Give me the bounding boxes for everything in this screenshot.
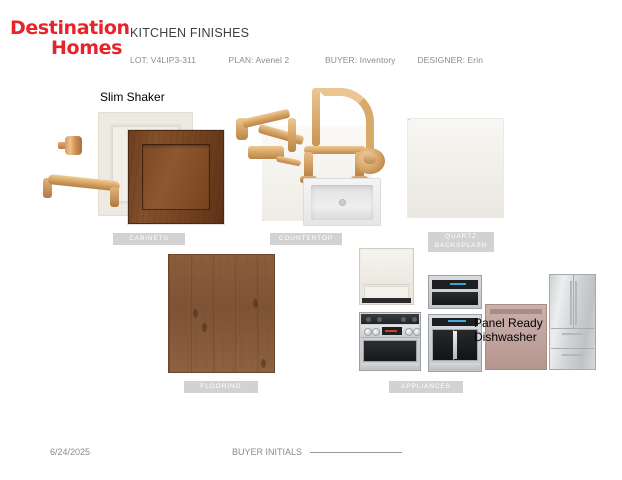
brand-logo-line1: Destination [10,18,122,38]
potfiller-lower-arm [258,124,305,145]
section-label-cabinets-text: CABINETS [129,235,169,244]
microwave-display [432,280,478,289]
range-control-knob [364,328,372,336]
range-toe-kick [361,363,419,369]
wood-knot [193,309,198,318]
built-in-microwave-oven [428,275,482,309]
meta-buyer: BUYER: Inventory [325,55,415,65]
range-cooktop [361,314,419,324]
quartz-backsplash-slab [407,118,504,218]
potfiller-spout [288,118,296,152]
brass-bar-pull [40,168,126,206]
footer-date: 6/24/2025 [50,447,90,457]
buyer-initials-signature-line[interactable] [310,451,402,453]
white-apron-farmhouse-sink [303,178,381,226]
microwave-door-glass [432,292,478,305]
section-label-countertop: COUNTERTOP [270,233,342,245]
range-burner [366,317,371,322]
wall-oven-display [432,318,478,326]
project-meta-row: LOT: V4LIP3-311 PLAN: Avenel 2 BUYER: In… [130,55,483,65]
fridge-door-split [573,275,574,328]
wall-oven-handle-right [455,331,457,359]
hood-canopy [362,251,411,285]
page-title: KITCHEN FINISHES [130,26,249,40]
range-hood [359,248,414,305]
range-display [382,327,402,335]
finish-selection-sheet: Destination Homes KITCHEN FINISHES LOT: … [0,0,622,480]
range-control-panel [361,325,419,338]
range-oven-door [363,340,417,362]
wood-knot [202,323,207,332]
brand-logo-line2: Homes [10,38,122,58]
annotation-slim-shaker: Slim Shaker [100,90,165,104]
hood-vent-slot [362,298,411,303]
wood-knot [253,299,258,308]
knob-cap [65,136,82,155]
meta-designer: DESIGNER: Erin [417,55,483,65]
brass-cabinet-knob [58,136,82,156]
section-label-flooring-text: FLOORING [200,383,241,392]
section-label-appliances-text: APPLIANCES [401,383,451,392]
wood-knot [261,359,266,368]
fridge-divider [551,328,594,329]
section-label-quartz-backsplash: QUARTZ BACKSPLASH [428,232,494,252]
sink-drain [339,199,346,206]
buyer-initials-label: BUYER INITIALS [232,447,302,457]
freezer-drawer-handle [562,333,583,335]
air-gap-cap [363,153,377,164]
annotation-panel-ready-dishwasher: Panel Ready Dishwasher [474,316,543,344]
range-burner [412,317,417,322]
range-control-knob [413,328,421,336]
range-burner [377,317,382,322]
gas-range [359,312,421,371]
meta-lot: LOT: V4LIP3-311 [130,55,226,65]
fridge-handle-left [570,281,572,325]
section-label-cabinets: CABINETS [113,233,185,245]
dishwasher-control-strip [490,309,542,314]
freezer-drawer-handle [562,354,583,356]
sink-basin [311,185,373,220]
pull-post-right [110,187,119,207]
meta-plan: PLAN: Avenel 2 [228,55,322,65]
section-label-backsplash-line2: BACKSPLASH [435,242,487,251]
dark-walnut-shaker-cabinet-door [128,130,224,224]
section-label-flooring: FLOORING [184,381,258,393]
section-label-backsplash-line1: QUARTZ [445,233,477,242]
wall-oven-toe-kick [430,363,480,370]
cabinet-door-panel [142,144,210,210]
range-control-knob [405,328,413,336]
brand-logo: Destination Homes [10,18,122,58]
brass-air-gap-button [355,148,385,174]
range-control-knob [372,328,380,336]
section-label-appliances: APPLIANCES [389,381,463,393]
wood-plank-flooring-swatch [168,254,275,373]
fridge-handle-right [575,281,577,325]
french-door-refrigerator [549,274,596,370]
faucet-leg-left [304,152,313,178]
section-label-countertop-text: COUNTERTOP [279,235,333,244]
fridge-divider [551,348,594,349]
buyer-initials-field[interactable]: BUYER INITIALS [232,447,402,457]
range-burner [401,317,406,322]
potfiller-handle [276,155,302,166]
faucet-sprayer-riser [312,88,320,146]
